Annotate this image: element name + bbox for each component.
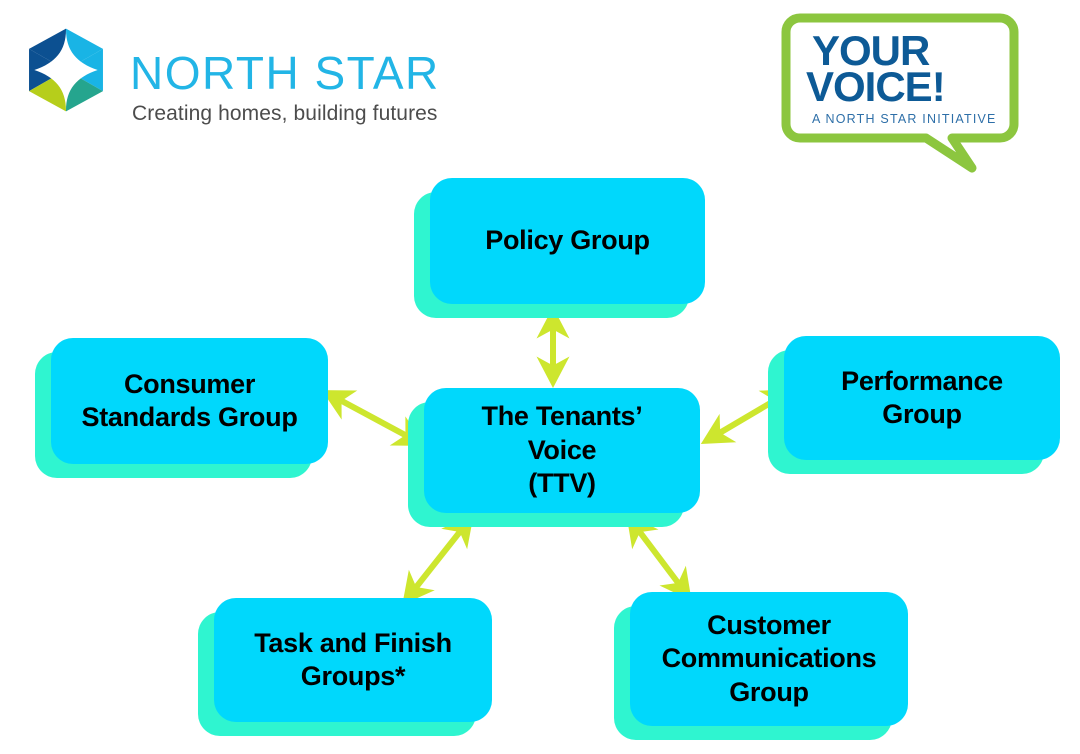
node-label: Consumer Standards Group (81, 368, 297, 435)
node-task-and-finish-groups[interactable]: Task and Finish Groups* (214, 598, 492, 722)
arrow-ttv-customer (630, 519, 688, 596)
arrow-ttv-task (406, 519, 470, 600)
node-performance-group[interactable]: Performance Group (784, 336, 1060, 460)
node-policy-group[interactable]: Policy Group (430, 178, 705, 304)
node-the-tenants-voice[interactable]: The Tenants’ Voice (TTV) (424, 388, 700, 513)
node-label: Policy Group (485, 224, 649, 257)
node-card[interactable]: Task and Finish Groups* (214, 598, 492, 722)
node-customer-communications-group[interactable]: Customer Communications Group (630, 592, 908, 726)
node-label: Task and Finish Groups* (254, 627, 452, 694)
node-card[interactable]: Performance Group (784, 336, 1060, 460)
diagram-canvas: NORTH STAR Creating homes, building futu… (0, 0, 1080, 754)
node-label: Customer Communications Group (662, 609, 877, 709)
node-card[interactable]: Customer Communications Group (630, 592, 908, 726)
arrow-ttv-consumer (327, 393, 420, 443)
node-card[interactable]: The Tenants’ Voice (TTV) (424, 388, 700, 513)
node-label: Performance Group (841, 365, 1003, 432)
node-card[interactable]: Consumer Standards Group (51, 338, 328, 464)
node-card[interactable]: Policy Group (430, 178, 705, 304)
node-consumer-standards-group[interactable]: Consumer Standards Group (51, 338, 328, 464)
node-label: The Tenants’ Voice (TTV) (482, 400, 643, 500)
